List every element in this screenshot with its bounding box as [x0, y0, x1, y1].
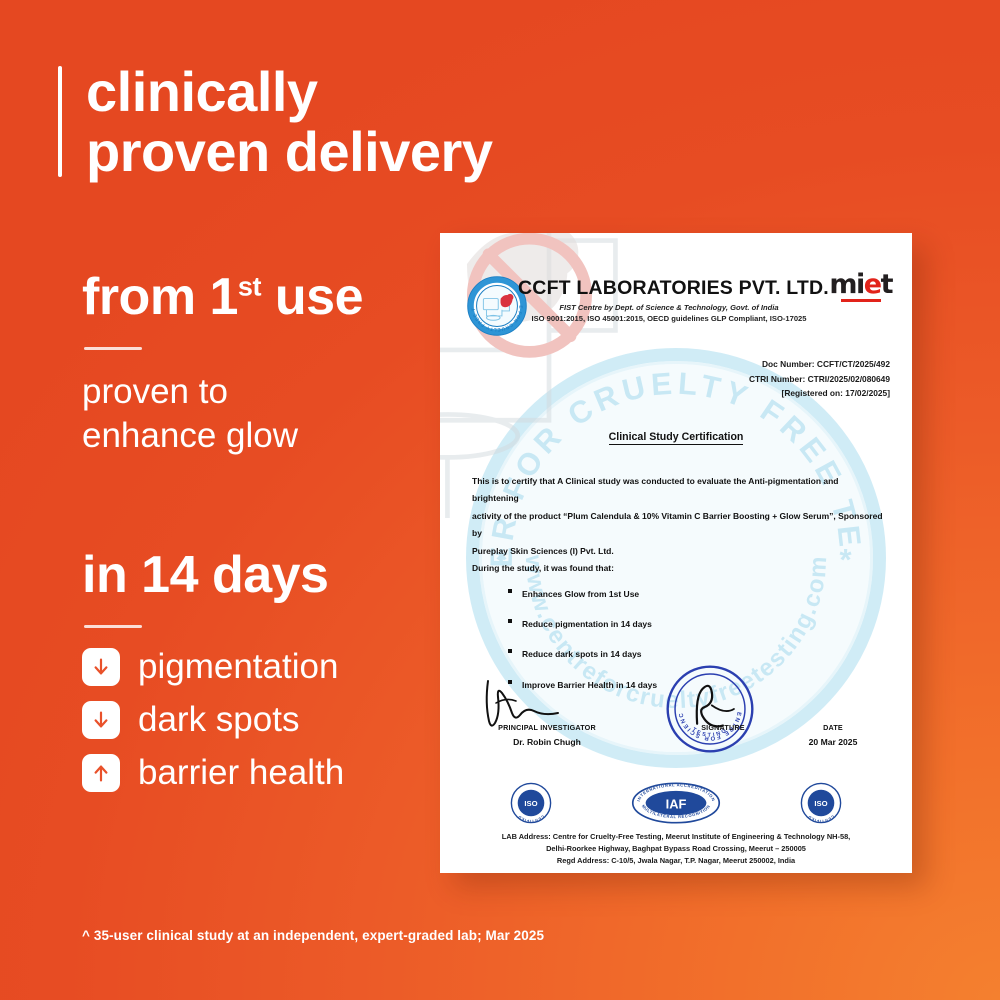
- claim-first-use-sub-line-2: enhance glow: [82, 414, 363, 459]
- date-block: DATE 20 Mar 2025: [778, 723, 888, 747]
- headline-accent-bar: [58, 66, 62, 177]
- signature-caption: SIGNATURE: [648, 723, 798, 732]
- body-line-3: Pureplay Skin Sciences (I) Pvt. Ltd.: [472, 543, 886, 560]
- claim-fourteen-days: in 14 days pigmentation dark spots: [82, 548, 344, 792]
- benefit-label: barrier health: [138, 755, 344, 790]
- divider-rule: [84, 347, 142, 350]
- certificate-title: Clinical Study Certification: [440, 431, 912, 443]
- date-caption: DATE: [778, 723, 888, 732]
- headline-line-2: proven delivery: [86, 122, 492, 182]
- date-value: 20 Mar 2025: [778, 737, 888, 747]
- list-item: dark spots: [82, 701, 344, 739]
- lab-address-line-1: LAB Address: Centre for Cruelty-Free Tes…: [458, 831, 894, 843]
- claim-first-use-title-post: use: [261, 268, 363, 326]
- pi-caption: PRINCIPAL INVESTIGATOR: [472, 723, 622, 732]
- miet-text-accent: e: [864, 269, 881, 300]
- miet-wordmark: miet: [829, 271, 892, 298]
- findings-intro: During the study, it was found that:: [472, 560, 886, 577]
- headline-block: clinically proven delivery: [58, 62, 618, 183]
- principal-investigator-block: PRINCIPAL INVESTIGATOR Dr. Robin Chugh: [472, 723, 622, 747]
- body-line-2: activity of the product “Plum Calendula …: [472, 508, 886, 543]
- benefit-list: pigmentation dark spots barrier health: [82, 648, 344, 792]
- svg-text:ISO: ISO: [814, 799, 827, 808]
- registered-address-line: Regd Address: C-10/5, Jwala Nagar, T.P. …: [458, 855, 894, 867]
- miet-logo: miet: [829, 271, 892, 302]
- list-item: barrier health: [82, 754, 344, 792]
- lab-tagline: FIST Centre by Dept. of Science & Techno…: [518, 303, 820, 312]
- claim-fourteen-days-title: in 14 days: [82, 548, 344, 603]
- arrow-down-icon: [82, 648, 120, 686]
- ctri-number: CTRI Number: CTRI/2025/02/080649: [749, 372, 890, 387]
- headline-line-1: clinically: [86, 60, 318, 123]
- doc-number: Doc Number: CCFT/CT/2025/492: [749, 357, 890, 372]
- claim-first-use-sub-line-1: proven to: [82, 372, 228, 411]
- svg-text:IAF: IAF: [666, 796, 687, 811]
- document-reference-block: Doc Number: CCFT/CT/2025/492 CTRI Number…: [749, 357, 890, 401]
- registered-on: [Registered on: 17/02/2025]: [749, 386, 890, 401]
- page-title: clinically proven delivery: [86, 62, 492, 183]
- claim-first-use-title: from 1st use: [82, 270, 363, 325]
- iso-certified-badge-right: ISO CERTIFIED: [800, 782, 842, 824]
- arrow-down-icon: [82, 701, 120, 739]
- arrow-up-icon: [82, 754, 120, 792]
- benefit-label: dark spots: [138, 702, 299, 737]
- iaf-accreditation-badge: IAF INTERNATIONAL ACCREDITATION MULTILAT…: [630, 781, 722, 825]
- accreditation-badges: ISO CERTIFIED IAF INTERNATIONAL A: [440, 781, 912, 825]
- certificate-document: CENTER FOR CRUELTY FREE TESTING www.cent…: [440, 233, 912, 873]
- list-item: Reduce dark spots in 14 days: [522, 646, 886, 663]
- list-item: Enhances Glow from 1st Use: [522, 586, 886, 603]
- claim-first-use: from 1st use proven to enhance glow: [82, 270, 363, 459]
- official-round-stamp-icon: CENTRE FOR SCIENCE TESTING: [664, 663, 756, 755]
- miet-text-post: t: [881, 269, 892, 300]
- pi-name: Dr. Robin Chugh: [472, 737, 622, 747]
- svg-text:ISO: ISO: [524, 799, 537, 808]
- claim-first-use-title-pre: from 1: [82, 268, 238, 326]
- body-line-1: This is to certify that A Clinical study…: [472, 473, 886, 508]
- claim-first-use-subtitle: proven to enhance glow: [82, 370, 363, 460]
- benefit-label: pigmentation: [138, 649, 338, 684]
- signature-block: SIGNATURE: [648, 723, 798, 732]
- divider-rule: [84, 625, 142, 628]
- list-item: pigmentation: [82, 648, 344, 686]
- footnote: ^ 35-user clinical study at an independe…: [82, 928, 544, 943]
- ordinal-suffix: st: [238, 272, 261, 302]
- lab-accreditations: ISO 9001:2015, ISO 45001:2015, OECD guid…: [518, 314, 820, 323]
- certificate-header: CENTRE FOR CRUELTY FREE TESTING CCFT LAB…: [440, 257, 912, 343]
- promo-canvas: clinically proven delivery from 1st use …: [0, 0, 1000, 1000]
- miet-text-pre: mi: [829, 269, 863, 300]
- lab-name: CCFT LABORATORIES PVT. LTD.: [518, 277, 820, 300]
- lab-address-line-2: Delhi-Roorkee Highway, Baghpat Bypass Ro…: [458, 843, 894, 855]
- lab-identity: CCFT LABORATORIES PVT. LTD. FIST Centre …: [518, 277, 820, 323]
- iso-certified-badge-left: ISO CERTIFIED: [510, 782, 552, 824]
- list-item: Reduce pigmentation in 14 days: [522, 616, 886, 633]
- certificate-footer-address: LAB Address: Centre for Cruelty-Free Tes…: [458, 831, 894, 868]
